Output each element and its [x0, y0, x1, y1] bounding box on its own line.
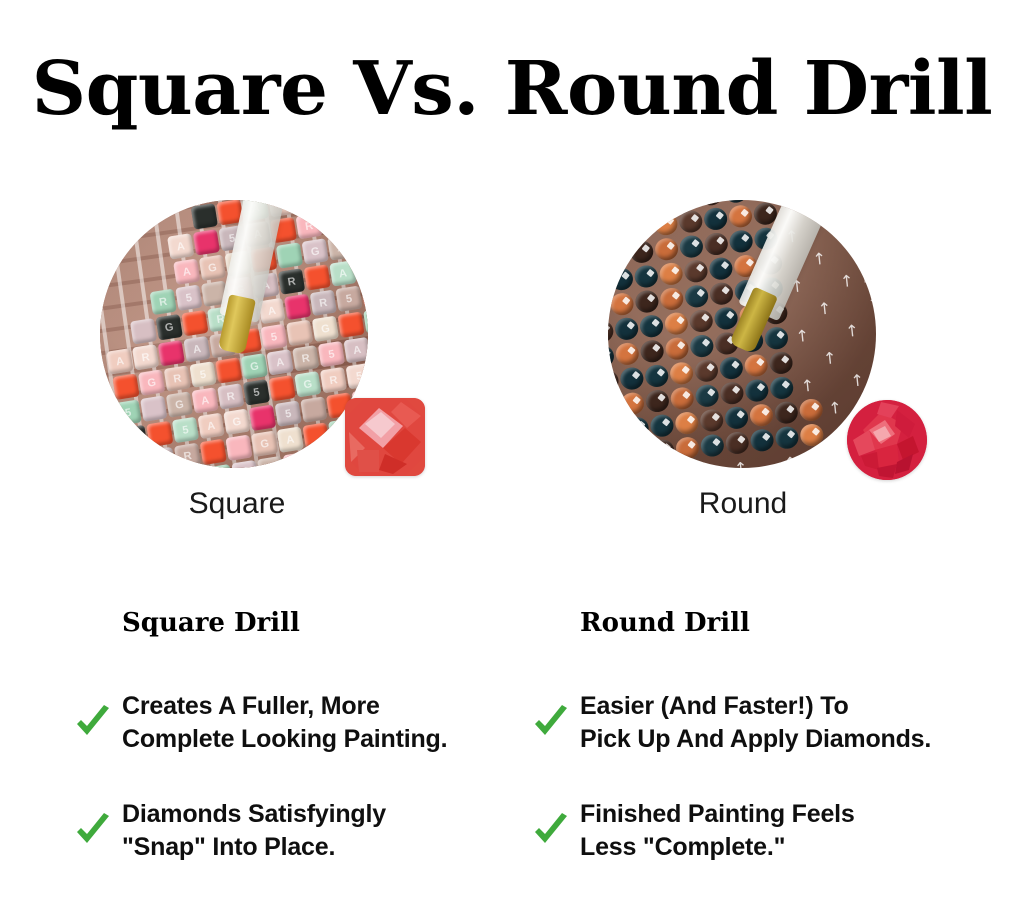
drill-square: G	[345, 200, 368, 205]
canvas-symbol-arrow: ↑	[844, 322, 861, 340]
drill-round	[704, 232, 729, 256]
drill-square	[304, 264, 331, 290]
drill-square: A	[343, 337, 368, 363]
canvas-symbol-arrow: ↑	[832, 448, 849, 466]
drill-code-letter: R	[132, 344, 159, 370]
drill-sparkle	[716, 236, 724, 244]
drill-sparkle	[726, 311, 734, 319]
drill-square	[100, 404, 116, 430]
drill-square	[181, 310, 208, 336]
drill-round	[628, 215, 653, 239]
drill-square: G	[302, 238, 329, 264]
list-item: Easier (And Faster!) To Pick Up And Appl…	[580, 690, 1000, 756]
square-gem-facets	[345, 398, 425, 476]
drill-round	[608, 344, 615, 368]
drill-round	[629, 240, 654, 264]
drill-round	[625, 416, 650, 440]
drill-square: R	[320, 367, 347, 393]
drill-square: 5	[189, 361, 216, 387]
drill-sparkle	[681, 366, 689, 374]
drill-sparkle	[616, 247, 624, 255]
drill-square: G	[355, 256, 368, 282]
drill-square	[284, 294, 311, 320]
drill-sparkle	[656, 368, 664, 376]
drill-sparkle	[711, 413, 719, 421]
drill-round	[689, 309, 714, 333]
drill-square: 5	[260, 324, 287, 350]
drill-sparkle	[641, 219, 649, 227]
drill-round	[608, 295, 610, 319]
drill-code-letter: G	[223, 409, 250, 435]
drill-sparkle	[715, 211, 723, 219]
drill-sparkle	[662, 443, 670, 451]
drill-square	[130, 318, 157, 344]
drill-sparkle	[622, 296, 630, 304]
drill-square: 5	[172, 417, 199, 443]
drill-round	[799, 398, 824, 422]
list-item-label: Diamonds Satisfyingly "Snap" Into Place.	[122, 798, 386, 864]
drill-code-letter: G	[100, 429, 122, 455]
drill-square: G	[166, 391, 193, 417]
drill-round	[719, 356, 744, 380]
drill-sparkle	[765, 206, 773, 214]
check-icon	[532, 704, 570, 742]
drill-round	[724, 406, 749, 430]
check-icon	[532, 812, 570, 850]
drill-round	[684, 284, 709, 308]
round-gem-facets	[847, 400, 927, 480]
drill-round	[764, 326, 789, 350]
drill-sparkle	[776, 330, 784, 338]
drill-square	[158, 340, 185, 366]
drill-sparkle	[608, 324, 610, 332]
list-item-label: Easier (And Faster!) To Pick Up And Appl…	[580, 690, 931, 756]
drill-code-letter: G	[308, 448, 335, 468]
drill-round	[649, 414, 674, 438]
canvas-symbol-letter: E	[862, 269, 874, 288]
drill-sparkle	[706, 363, 714, 371]
drill-sparkle	[696, 289, 704, 297]
drill-code-letter: 5	[260, 324, 287, 350]
drill-sparkle	[652, 343, 660, 351]
canvas-symbol-arrow: ↑	[833, 222, 850, 240]
canvas-symbol-arrow: ↑	[683, 464, 700, 468]
drill-code-letter: 5	[243, 379, 270, 405]
drill-code-letter: R	[217, 383, 244, 409]
drill-square: G	[308, 448, 335, 468]
drill-square: 5	[175, 285, 202, 311]
drill-sparkle	[637, 446, 645, 454]
square-drill-column: Square Drill Creates A Fuller, More Comp…	[122, 608, 542, 906]
drill-square: A	[167, 233, 194, 259]
drill-round	[729, 229, 754, 253]
drill-square	[269, 375, 296, 401]
drill-square: A	[183, 336, 210, 362]
drill-square: R	[353, 230, 368, 256]
drill-code-letter: A	[283, 452, 310, 468]
drill-square: R	[278, 268, 305, 294]
drill-sparkle	[687, 440, 695, 448]
drill-round	[654, 237, 679, 261]
drill-round	[674, 411, 699, 435]
drill-round	[645, 389, 670, 413]
drill-square	[225, 435, 252, 461]
drill-code-letter: 5	[293, 200, 320, 213]
drill-code-letter: R	[310, 290, 337, 316]
canvas-symbol-letter: E	[857, 219, 869, 238]
drill-round	[609, 292, 634, 316]
drill-round	[670, 386, 695, 410]
drill-round	[634, 264, 659, 288]
drill-square	[193, 229, 220, 255]
drill-square	[286, 320, 313, 346]
drill-round	[619, 366, 644, 390]
drill-round	[664, 337, 689, 361]
drill-square: A	[327, 234, 354, 260]
drill-sparkle	[731, 360, 739, 368]
canvas-symbol-arrow: ↑	[839, 272, 856, 290]
drill-sparkle	[671, 291, 679, 299]
check-icon	[74, 704, 112, 742]
drill-round	[725, 431, 750, 455]
drill-sparkle	[616, 222, 624, 230]
square-drill-panel: R5GA5AR5GRA5AR5AGRGAR5R5GARAGRGR5AR5GARA…	[95, 200, 425, 520]
drill-square	[146, 421, 173, 447]
drill-sparkle	[641, 244, 649, 252]
list-item: Diamonds Satisfyingly "Snap" Into Place.	[122, 798, 542, 864]
drill-round	[608, 217, 629, 241]
drill-round	[608, 270, 609, 294]
drill-square: A	[329, 260, 356, 286]
drill-square: A	[283, 452, 310, 468]
drill-code-letter: R	[174, 443, 201, 468]
drill-square: G	[138, 369, 165, 395]
drill-sparkle	[662, 418, 670, 426]
drill-code-letter: R	[292, 345, 319, 371]
drill-code-letter: 5	[175, 285, 202, 311]
drill-round	[608, 200, 624, 217]
drill-square	[249, 404, 276, 430]
drill-code-letter: 5	[189, 361, 216, 387]
drill-square: 5	[321, 209, 348, 235]
drill-sparkle	[637, 420, 645, 428]
drill-code-letter: A	[266, 349, 293, 375]
drill-square: G	[148, 447, 175, 468]
square-photo-caption: Square	[72, 487, 402, 521]
drill-code-letter: R	[295, 213, 322, 239]
drill-square: A	[106, 348, 133, 374]
drill-round	[695, 384, 720, 408]
drill-round	[674, 200, 699, 209]
drill-sparkle	[756, 383, 764, 391]
drill-round	[700, 433, 725, 457]
drill-square: 5	[293, 200, 320, 213]
drill-round	[608, 419, 625, 443]
drill-round	[608, 242, 629, 266]
drill-code-letter: G	[302, 238, 329, 264]
drill-round	[669, 361, 694, 385]
drill-code-letter: R	[231, 460, 258, 468]
drill-code-letter: A	[167, 233, 194, 259]
drill-round	[620, 391, 645, 415]
drill-sparkle	[608, 373, 615, 381]
drill-square: 5	[318, 341, 345, 367]
drill-code-letter: R	[164, 365, 191, 391]
drill-round	[608, 319, 614, 343]
drill-sparkle	[811, 427, 819, 435]
square-gem	[345, 398, 425, 476]
round-drill-panel: ↑↑E↑EE↑↑FF↑F↑↑E↑EE↑↑FF↑F↑↑E↑EE↑↑↑↑↑↑↑↑↑↑…	[603, 200, 933, 520]
drill-code-letter: G	[355, 256, 368, 282]
drill-sparkle	[651, 318, 659, 326]
list-item-label: Finished Painting Feels Less "Complete."	[580, 798, 855, 864]
drill-round	[728, 204, 753, 228]
drill-sparkle	[761, 407, 769, 415]
drill-code-letter: G	[251, 430, 278, 456]
drill-round	[664, 311, 689, 335]
drill-sparkle	[608, 349, 610, 357]
canvas-symbol-arrow: ↑	[732, 459, 749, 468]
drill-code-letter: R	[320, 367, 347, 393]
canvas-symbol-arrow: ↑	[782, 454, 799, 468]
drill-round	[640, 339, 665, 363]
drill-round	[768, 351, 793, 375]
drill-square: 5	[243, 379, 270, 405]
canvas-symbol-arrow: ↑	[849, 371, 866, 389]
drill-sparkle	[712, 438, 720, 446]
drill-code-letter: 5	[346, 363, 368, 389]
canvas-symbol-letter: F	[854, 200, 866, 213]
drill-square	[123, 451, 150, 468]
drill-sparkle	[745, 258, 753, 266]
drill-code-letter: A	[183, 336, 210, 362]
drill-square: 5	[346, 363, 368, 389]
drill-sparkle	[701, 313, 709, 321]
drill-sparkle	[612, 423, 620, 431]
drill-square: 5	[335, 286, 362, 312]
drill-code-letter: 5	[318, 341, 345, 367]
list-item-label: Creates A Fuller, More Complete Looking …	[122, 690, 447, 756]
drill-round	[774, 426, 799, 450]
drill-sparkle	[701, 338, 709, 346]
square-drill-photo: R5GA5AR5GRA5AR5AGRGAR5R5GARAGRGR5AR5GARA…	[100, 200, 368, 468]
drill-code-letter: G	[156, 314, 183, 340]
drill-square: R	[132, 344, 159, 370]
drill-code-letter: 5	[172, 417, 199, 443]
drill-square: A	[277, 426, 304, 452]
round-drill-photo: ↑↑E↑EE↑↑FF↑F↑↑E↑EE↑↑FF↑F↑↑E↑EE↑↑↑↑↑↑↑↑↑↑…	[608, 200, 876, 468]
drill-square: G	[294, 371, 321, 397]
drill-round	[683, 259, 708, 283]
drill-round	[634, 289, 659, 313]
drill-sparkle	[676, 316, 684, 324]
drill-code-letter: G	[166, 391, 193, 417]
drill-round	[694, 359, 719, 383]
drill-round	[615, 342, 640, 366]
drill-square	[302, 422, 329, 448]
canvas-symbol-arrow: ↑	[811, 250, 828, 268]
drill-code-letter: 5	[335, 286, 362, 312]
drill-code-letter: G	[199, 254, 226, 280]
drill-sparkle	[646, 269, 654, 277]
canvas-symbol-arrow: ↑	[821, 349, 838, 367]
drill-round	[699, 408, 724, 432]
drill-sparkle	[737, 435, 745, 443]
drill-round	[719, 381, 744, 405]
drill-square: A	[191, 387, 218, 413]
drill-sparkle	[756, 358, 764, 366]
drill-round	[689, 334, 714, 358]
drill-code-letter: A	[206, 464, 233, 468]
drill-square	[191, 203, 218, 229]
drill-round	[644, 364, 669, 388]
drill-sparkle	[611, 200, 619, 205]
drill-code-letter: A	[327, 234, 354, 260]
drill-code-letter: G	[345, 200, 368, 205]
drill-code-letter: G	[148, 447, 175, 468]
drill-round	[675, 436, 700, 460]
drill-sparkle	[721, 286, 729, 294]
drill-square: G	[223, 409, 250, 435]
drill-square: G	[312, 316, 339, 342]
drill-square: R	[174, 443, 201, 468]
canvas-symbol-arrow: ↑	[794, 327, 811, 345]
drill-round	[625, 441, 650, 465]
drill-sparkle	[686, 415, 694, 423]
drill-round	[769, 376, 794, 400]
drill-code-letter: R	[150, 289, 177, 315]
check-icon	[74, 812, 112, 850]
drill-round	[608, 394, 620, 418]
drill-square: R	[310, 290, 337, 316]
list-item: Creates A Fuller, More Complete Looking …	[122, 690, 542, 756]
drill-square: G	[251, 430, 278, 456]
drill-square: G	[199, 254, 226, 280]
round-photo-caption: Round	[578, 487, 908, 521]
drill-sparkle	[631, 371, 639, 379]
drill-square: 5	[114, 399, 141, 425]
drill-round	[650, 439, 675, 463]
drill-sparkle	[626, 321, 634, 329]
drill-round	[679, 234, 704, 258]
drill-round	[744, 378, 769, 402]
drill-round	[744, 353, 769, 377]
drill-square: A	[120, 425, 147, 451]
drill-round	[608, 369, 620, 393]
drill-code-letter: A	[198, 413, 225, 439]
drill-square: A	[206, 464, 233, 468]
canvas-symbol-arrow: ↑	[827, 399, 844, 417]
canvas-symbol-arrow: ↑	[799, 376, 816, 394]
drill-sparkle	[665, 216, 673, 224]
drill-round	[678, 209, 703, 233]
drill-sparkle	[682, 391, 690, 399]
drill-code-letter: G	[312, 316, 339, 342]
drill-code-letter: R	[353, 230, 368, 256]
drill-code-letter: A	[173, 259, 200, 285]
drill-round	[749, 428, 774, 452]
drill-round	[723, 200, 748, 204]
drill-sparkle	[786, 430, 794, 438]
drill-round	[659, 262, 684, 286]
drill-round	[624, 200, 649, 214]
drill-code-letter: A	[191, 387, 218, 413]
drill-round	[708, 257, 733, 281]
drill-sparkle	[632, 396, 640, 404]
drill-square: R	[295, 213, 322, 239]
drill-square: G	[100, 429, 122, 455]
drill-code-letter: R	[278, 268, 305, 294]
round-drill-column: Round Drill Easier (And Faster!) To Pick…	[580, 608, 1000, 906]
drill-square: R	[217, 383, 244, 409]
drill-round	[659, 287, 684, 311]
drill-square: R	[292, 345, 319, 371]
drill-square: R	[164, 365, 191, 391]
drill-square: G	[156, 314, 183, 340]
drill-sparkle	[677, 341, 685, 349]
drill-sparkle	[646, 294, 654, 302]
drill-code-letter: G	[241, 353, 268, 379]
drill-round	[653, 212, 678, 236]
drill-square: R	[231, 460, 258, 468]
drill-code-letter: A	[106, 348, 133, 374]
drill-code-letter: 5	[321, 209, 348, 235]
drill-sparkle	[741, 234, 749, 242]
canvas-symbol-letter: F	[860, 244, 872, 263]
drill-sparkle	[811, 402, 819, 410]
drill-sparkle	[736, 410, 744, 418]
drill-sparkle	[781, 355, 789, 363]
round-gem	[847, 400, 927, 480]
drill-code-letter: 5	[100, 455, 124, 468]
drill-square	[140, 395, 167, 421]
drill-round	[749, 403, 774, 427]
drill-square: A	[198, 413, 225, 439]
drill-square	[337, 311, 364, 337]
drill-sparkle	[732, 385, 740, 393]
drill-code-letter: A	[120, 425, 147, 451]
drill-code-letter: 5	[257, 456, 284, 468]
drill-square	[215, 357, 242, 383]
drill-code-letter: G	[138, 369, 165, 395]
drill-square: 5	[100, 455, 124, 468]
square-drill-heading: Square Drill	[122, 608, 542, 638]
drill-sparkle	[690, 214, 698, 222]
round-drill-heading: Round Drill	[580, 608, 1000, 638]
drill-round	[774, 400, 799, 424]
drill-square: G	[241, 353, 268, 379]
drill-sparkle	[786, 405, 794, 413]
drill-square: 5	[257, 456, 284, 468]
drill-sparkle	[608, 398, 616, 406]
drill-round	[608, 444, 625, 468]
drill-square: A	[266, 349, 293, 375]
page-title: Square Vs. Round Drill	[0, 47, 1024, 131]
drill-sparkle	[621, 271, 629, 279]
drill-square	[276, 242, 303, 268]
drill-sparkle	[762, 432, 770, 440]
drill-code-letter: 5	[275, 400, 302, 426]
drill-sparkle	[657, 393, 665, 401]
drill-sparkle	[627, 346, 635, 354]
drill-square	[347, 205, 368, 231]
drill-sparkle	[720, 261, 728, 269]
drill-code-letter: 5	[114, 399, 141, 425]
canvas-symbol-arrow: ↑	[871, 344, 876, 362]
list-item: Finished Painting Feels Less "Complete."	[580, 798, 1000, 864]
drill-round	[709, 282, 734, 306]
drill-round	[748, 200, 773, 201]
